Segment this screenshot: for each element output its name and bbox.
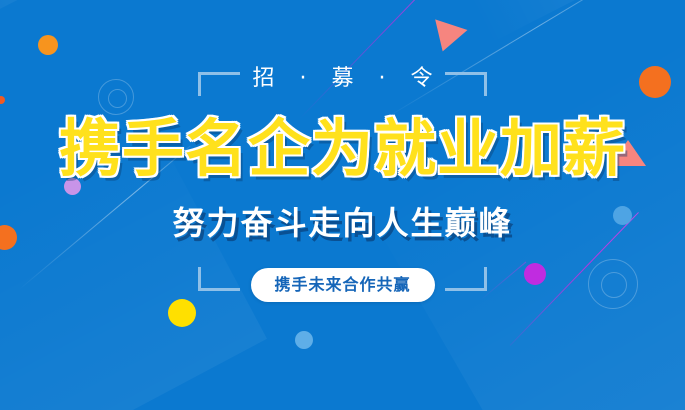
- pink-triangle-top-icon: [427, 19, 468, 56]
- orange-dot-top-left: [38, 35, 58, 55]
- yellow-dot-bottom-left: [168, 299, 196, 327]
- hairline-top-right: [385, 0, 643, 119]
- bracket-bottom-left: [198, 267, 240, 291]
- lightblue-dot-bottom: [295, 331, 313, 349]
- subheadline-text: 努力奋斗走向人生巅峰: [0, 207, 685, 239]
- diagonal-highlight-top-right: [450, 0, 685, 43]
- eyebrow-text: 招 · 募 · 令: [0, 68, 685, 90]
- magenta-dot-bottom-right: [524, 263, 546, 285]
- bracket-bottom-right: [445, 267, 487, 291]
- headline-text: 携手名企为就业加薪: [0, 118, 685, 180]
- ring-bottom-right: [588, 259, 638, 309]
- cta-button[interactable]: 携手未来合作共赢: [251, 268, 435, 302]
- recruitment-banner: 招 · 募 · 令 携手名企为就业加薪 努力奋斗走向人生巅峰 携手未来合作共赢: [0, 0, 685, 410]
- diagonal-highlight-top-left: [0, 0, 294, 50]
- cta-button-label: 携手未来合作共赢: [274, 277, 410, 293]
- violet-streak-short: [480, 262, 527, 301]
- violet-streak-top: [300, 0, 443, 119]
- orange-dot-left-edge: [0, 96, 5, 104]
